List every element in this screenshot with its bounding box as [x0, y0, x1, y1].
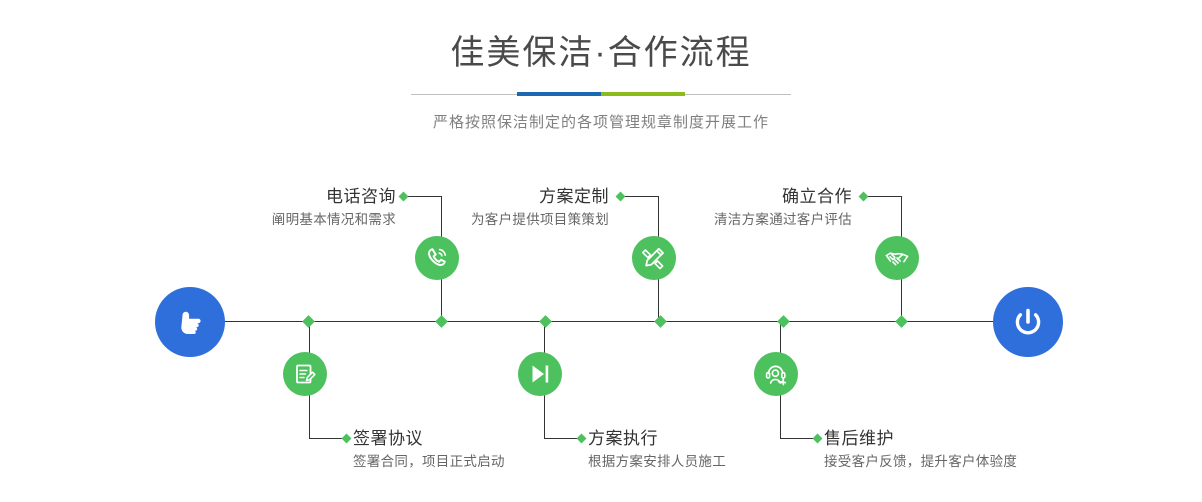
axis-marker-step-6 [895, 315, 908, 328]
title-divider [411, 90, 791, 100]
step-icon-circle-1[interactable] [415, 236, 459, 280]
axis-marker-step-1 [302, 315, 315, 328]
divider-segment-blue [517, 92, 601, 96]
step-label-2: 签署协议 签署合同，项目正式启动 [353, 427, 583, 473]
connector-hline-step-5 [864, 196, 901, 197]
step-desc-2: 签署合同，项目正式启动 [353, 451, 583, 473]
step-label-1: 电话咨询 阐明基本情况和需求 [180, 185, 396, 231]
axis-marker-step-2 [435, 315, 448, 328]
axis-marker-step-4 [654, 315, 667, 328]
axis-marker-step-3 [539, 315, 552, 328]
step-name-1: 电话咨询 [180, 185, 396, 209]
play-execute-icon [527, 361, 553, 387]
step-desc-1: 阐明基本情况和需求 [180, 209, 396, 231]
step-icon-circle-5[interactable] [875, 236, 919, 280]
divider-segment-green [601, 92, 685, 96]
page-subtitle: 严格按照保洁制定的各项管理规章制度开展工作 [0, 112, 1202, 134]
cooperation-process-infographic: 佳美保洁·合作流程 严格按照保洁制定的各项管理规章制度开展工作 电话 [0, 0, 1202, 502]
handshake-icon [884, 245, 910, 271]
flow-start-node [155, 287, 225, 357]
step-icon-circle-6[interactable] [754, 352, 798, 396]
step-name-4: 方案执行 [588, 427, 818, 451]
step-name-5: 确立合作 [640, 185, 852, 209]
step-label-3: 方案定制 为客户提供项目策策划 [393, 185, 609, 231]
step-name-2: 签署协议 [353, 427, 583, 451]
pointing-hand-icon [170, 302, 210, 342]
step-icon-circle-3[interactable] [632, 236, 676, 280]
step-name-6: 售后维护 [824, 427, 1084, 451]
label-marker-step-3 [616, 192, 626, 202]
step-icon-circle-2[interactable] [283, 352, 327, 396]
document-pen-icon [292, 361, 318, 387]
label-marker-step-5 [859, 192, 869, 202]
step-desc-4: 根据方案安排人员施工 [588, 451, 818, 473]
step-desc-6: 接受客户反馈，提升客户体验度 [824, 451, 1084, 473]
step-desc-5: 清洁方案通过客户评估 [640, 209, 852, 231]
step-label-4: 方案执行 根据方案安排人员施工 [588, 427, 818, 473]
pencil-ruler-icon [641, 245, 667, 271]
step-name-3: 方案定制 [393, 185, 609, 209]
page-title: 佳美保洁·合作流程 [0, 30, 1202, 76]
label-marker-step-2 [342, 434, 352, 444]
flow-end-node [993, 287, 1063, 357]
header: 佳美保洁·合作流程 严格按照保洁制定的各项管理规章制度开展工作 [0, 30, 1202, 134]
step-label-6: 售后维护 接受客户反馈，提升客户体验度 [824, 427, 1084, 473]
step-label-5: 确立合作 清洁方案通过客户评估 [640, 185, 852, 231]
headset-support-add-icon [763, 361, 789, 387]
phone-call-icon [424, 245, 450, 271]
step-icon-circle-4[interactable] [518, 352, 562, 396]
power-icon [1008, 302, 1048, 342]
step-desc-3: 为客户提供项目策策划 [393, 209, 609, 231]
